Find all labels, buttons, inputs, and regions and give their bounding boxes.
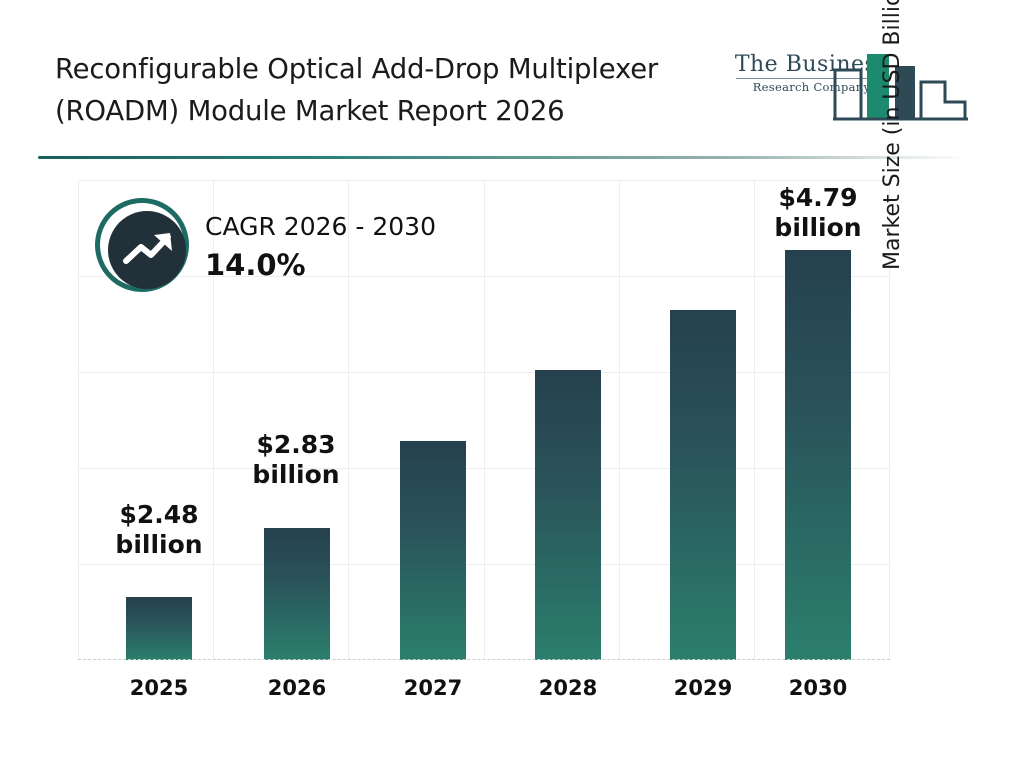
bar-2028: [535, 370, 601, 660]
bar-2030: [785, 250, 851, 660]
x-tick-2025: 2025: [99, 676, 219, 700]
x-tick-2030: 2030: [758, 676, 878, 700]
gridline-h: [78, 468, 890, 469]
gridline-v: [78, 180, 79, 660]
gridline-h: [78, 372, 890, 373]
axis-baseline: [78, 659, 890, 660]
page-title: Reconfigurable Optical Add-Drop Multiple…: [55, 48, 735, 132]
value-line1: $2.48: [89, 500, 229, 530]
gridline-h: [78, 564, 890, 565]
cagr-circle: [95, 198, 189, 292]
bar-2025: [126, 597, 192, 660]
cagr-circle-inner: [108, 211, 186, 289]
gridline-v: [754, 180, 755, 660]
x-tick-2027: 2027: [373, 676, 493, 700]
bar-2029: [670, 310, 736, 660]
header: Reconfigurable Optical Add-Drop Multiple…: [0, 0, 1024, 160]
x-tick-2029: 2029: [643, 676, 763, 700]
gridline-h: [78, 180, 890, 181]
bar-value-label-2025: $2.48 billion: [89, 500, 229, 560]
gridline-v: [619, 180, 620, 660]
value-line2: billion: [748, 213, 888, 243]
cagr-badge: CAGR 2026 - 2030 14.0%: [95, 198, 515, 298]
value-line2: billion: [226, 460, 366, 490]
value-line1: $2.83: [226, 430, 366, 460]
bar-2027: [400, 441, 466, 660]
company-logo: The Business Research Company: [728, 40, 968, 130]
chart-page: Reconfigurable Optical Add-Drop Multiple…: [0, 0, 1024, 768]
bar-value-label-2030: $4.79 billion: [748, 183, 888, 243]
trend-up-arrow-icon: [108, 211, 186, 289]
value-line2: billion: [89, 530, 229, 560]
cagr-value: 14.0%: [205, 248, 306, 282]
bar-2026: [264, 528, 330, 660]
header-divider: [38, 156, 968, 159]
x-tick-2026: 2026: [237, 676, 357, 700]
cagr-label: CAGR 2026 - 2030: [205, 212, 436, 241]
x-tick-2028: 2028: [508, 676, 628, 700]
value-line1: $4.79: [748, 183, 888, 213]
y-axis-title: Market Size (in USD Billion): [880, 0, 905, 270]
bar-value-label-2026: $2.83 billion: [226, 430, 366, 490]
